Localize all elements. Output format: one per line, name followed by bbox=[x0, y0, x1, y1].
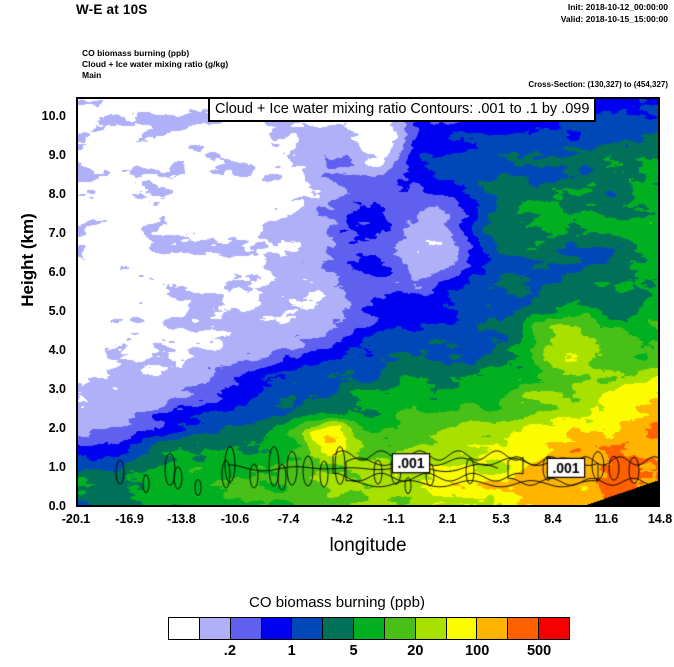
x-axis-tick: 11.6 bbox=[595, 512, 619, 526]
variable-line-shaded: CO biomass burning (ppb) bbox=[82, 48, 228, 59]
colorbar-cell bbox=[354, 618, 385, 639]
x-axis-tick: -4.2 bbox=[331, 512, 353, 526]
colorbar-cell bbox=[447, 618, 478, 639]
colorbar-cell bbox=[323, 618, 354, 639]
x-axis-tick: -13.8 bbox=[167, 512, 196, 526]
valid-time-label: Valid: 2018-10-15_15:00:00 bbox=[561, 14, 668, 24]
x-axis-tick: -20.1 bbox=[62, 512, 91, 526]
x-axis-tick: -10.6 bbox=[221, 512, 250, 526]
page-title: W-E at 10S bbox=[76, 2, 148, 17]
x-axis-tick: -1.1 bbox=[383, 512, 405, 526]
colorbar bbox=[168, 617, 570, 640]
x-axis-tick: 14.8 bbox=[648, 512, 672, 526]
x-axis-tick: -16.9 bbox=[115, 512, 144, 526]
colorbar-tick: 100 bbox=[465, 643, 489, 659]
colorbar-cell bbox=[416, 618, 447, 639]
colorbar-cell bbox=[200, 618, 231, 639]
colorbar-cell bbox=[292, 618, 323, 639]
init-time-label: Init: 2018-10-12_00:00:00 bbox=[568, 2, 668, 12]
x-axis-tick: -7.4 bbox=[278, 512, 300, 526]
variable-line-contour: Cloud + Ice water mixing ratio (g/kg) bbox=[82, 59, 228, 70]
y-axis-tick: 0.0 bbox=[20, 499, 66, 513]
colorbar-tick: 5 bbox=[349, 643, 357, 659]
colorbar-tick-labels: .21520100500 bbox=[168, 643, 570, 663]
colorbar-title: CO biomass burning (ppb) bbox=[0, 594, 674, 611]
x-axis-tick: 2.1 bbox=[439, 512, 456, 526]
colorbar-cell bbox=[262, 618, 293, 639]
colorbar-cell bbox=[508, 618, 539, 639]
colorbar-cell bbox=[477, 618, 508, 639]
colorbar-tick: .2 bbox=[224, 643, 236, 659]
variable-legend-block: CO biomass burning (ppb) Cloud + Ice wat… bbox=[82, 48, 228, 81]
x-axis-tick-labels: -20.1-16.9-13.8-10.6-7.4-4.2-1.12.15.38.… bbox=[76, 512, 660, 532]
colorbar-tick: 500 bbox=[527, 643, 551, 659]
colorbar-cell bbox=[385, 618, 416, 639]
colorbar-cell bbox=[231, 618, 262, 639]
plot-area bbox=[76, 97, 660, 507]
x-axis-tick: 5.3 bbox=[492, 512, 509, 526]
colorbar-tick: 20 bbox=[407, 643, 423, 659]
contour-field-canvas bbox=[78, 99, 658, 505]
colorbar-tick: 1 bbox=[288, 643, 296, 659]
colorbar-cell bbox=[539, 618, 569, 639]
y-axis-title: Height (km) bbox=[18, 50, 38, 470]
variable-line-domain: Main bbox=[82, 70, 228, 81]
x-axis-title: longitude bbox=[76, 535, 660, 557]
cross-section-label: Cross-Section: (130,327) to (454,327) bbox=[528, 80, 668, 89]
x-axis-tick: 8.4 bbox=[544, 512, 561, 526]
contour-title-box: Cloud + Ice water mixing ratio Contours:… bbox=[208, 97, 596, 122]
colorbar-cell bbox=[169, 618, 200, 639]
